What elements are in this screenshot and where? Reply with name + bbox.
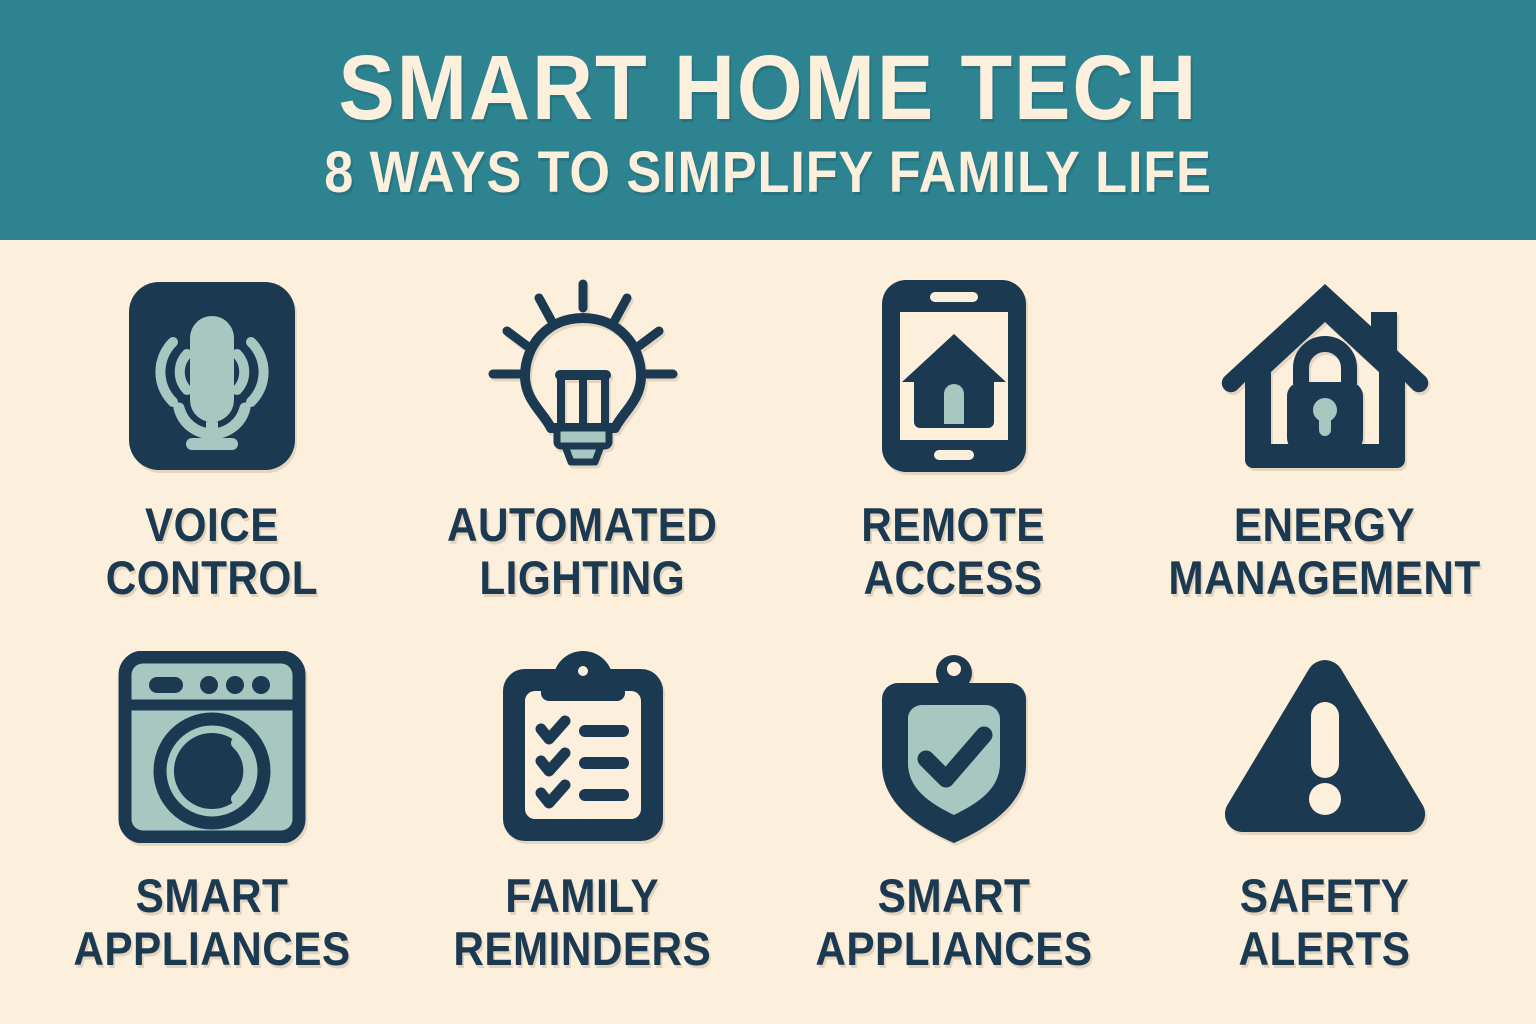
feature-label: VOICE CONTROL: [105, 499, 317, 604]
feature-item-smart-appliances-washer: SMART APPLIANCES: [26, 629, 397, 1000]
lightbulb-icon: [468, 268, 698, 483]
feature-label: SMART APPLIANCES: [73, 870, 350, 975]
microphone-icon: [97, 268, 327, 483]
warning-triangle-icon: [1210, 639, 1440, 854]
feature-item-smart-appliances-shield: SMART APPLIANCES: [768, 629, 1139, 1000]
feature-label: REMOTE ACCESS: [862, 499, 1046, 604]
shield-check-icon: [839, 639, 1069, 854]
header-band: SMART HOME TECH 8 WAYS TO SIMPLIFY FAMIL…: [0, 0, 1536, 240]
feature-label: AUTOMATED LIGHTING: [447, 499, 717, 604]
feature-item-automated-lighting: AUTOMATED LIGHTING: [397, 258, 768, 629]
feature-grid: VOICE CONTROL: [0, 240, 1536, 1024]
house-lock-icon: [1210, 268, 1440, 483]
washing-machine-icon: [97, 639, 327, 854]
feature-item-voice-control: VOICE CONTROL: [26, 258, 397, 629]
infographic-poster: SMART HOME TECH 8 WAYS TO SIMPLIFY FAMIL…: [0, 0, 1536, 1024]
feature-label: SAFETY ALERTS: [1239, 870, 1411, 975]
feature-item-remote-access: REMOTE ACCESS: [768, 258, 1139, 629]
feature-item-family-reminders: FAMILY REMINDERS: [397, 629, 768, 1000]
feature-item-safety-alerts: SAFETY ALERTS: [1139, 629, 1510, 1000]
page-title: SMART HOME TECH: [338, 42, 1198, 136]
feature-label: SMART APPLIANCES: [815, 870, 1092, 975]
clipboard-checklist-icon: [468, 639, 698, 854]
feature-item-energy-management: ENERGY MANAGEMENT: [1139, 258, 1510, 629]
feature-label: ENERGY MANAGEMENT: [1168, 499, 1480, 604]
feature-label: FAMILY REMINDERS: [454, 870, 712, 975]
smartphone-house-icon: [839, 268, 1069, 483]
page-subtitle: 8 WAYS TO SIMPLIFY FAMILY LIFE: [324, 144, 1212, 202]
